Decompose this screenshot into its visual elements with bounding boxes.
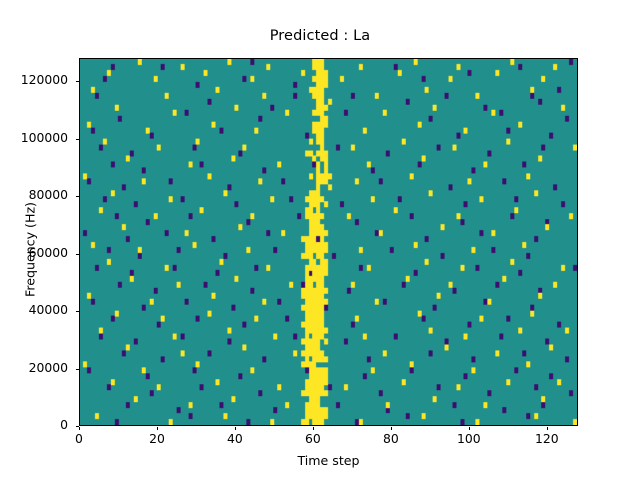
y-tick-mark <box>76 196 80 197</box>
y-tick-label-text: 20000 <box>29 360 68 375</box>
y-tick-mark <box>76 81 80 82</box>
y-tick-mark <box>76 369 80 370</box>
figure-canvas: Predicted : La 0200004000060000800001000… <box>0 0 640 480</box>
x-tick-mark <box>391 427 392 431</box>
x-tick-label: 80 <box>383 431 399 446</box>
y-tick-mark <box>76 311 80 312</box>
y-tick-label-text: 0 <box>60 417 68 432</box>
x-tick-label: 20 <box>149 431 165 446</box>
x-tick-mark <box>547 427 548 431</box>
x-tick-mark <box>469 427 470 431</box>
x-tick-mark <box>313 427 314 431</box>
x-tick-label: 60 <box>305 431 321 446</box>
x-tick-mark <box>235 427 236 431</box>
x-tick-mark <box>157 427 158 431</box>
y-tick-mark <box>76 139 80 140</box>
x-tick-label: 0 <box>75 431 83 446</box>
y-axis-label: Frequency (Hz) <box>23 150 38 350</box>
x-tick-label: 100 <box>457 431 481 446</box>
y-tick-label-text: 100000 <box>21 130 68 145</box>
x-tick-label: 40 <box>227 431 243 446</box>
x-tick-mark <box>79 427 80 431</box>
y-tick-label-text: 120000 <box>21 72 68 87</box>
x-tick-label: 120 <box>535 431 559 446</box>
heatmap-image <box>80 59 577 425</box>
heatmap-plot-area <box>79 58 578 426</box>
x-axis-label: Time step <box>79 453 578 468</box>
chart-title: Predicted : La <box>0 28 640 44</box>
y-tick-mark <box>76 254 80 255</box>
